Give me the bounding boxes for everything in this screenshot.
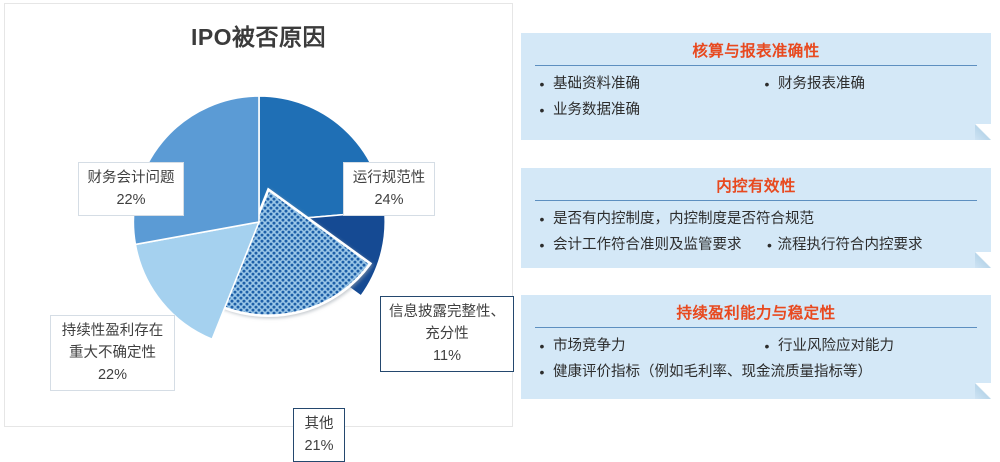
bullet-item: • 是否有内控制度，内控制度是否符合规范 xyxy=(531,206,981,232)
bullet-label: 基础资料准确 xyxy=(553,71,640,97)
pie-chart: 财务会计问题 22% 运行规范性 24% 信息披露完整性、 充分性 11% 持续… xyxy=(5,56,514,426)
bullet-item: • 业务数据准确 xyxy=(531,97,756,123)
bullet-dot-icon: • xyxy=(756,71,778,97)
bullet-row: • 基础资料准确 • 财务报表准确 xyxy=(531,71,981,97)
bullet-label: 会计工作符合准则及监管要求 xyxy=(553,232,742,258)
panel-title: 核算与报表准确性 xyxy=(521,33,991,61)
bullet-label: 健康评价指标（例如毛利率、现金流质量指标等） xyxy=(553,359,872,385)
pie-label-yunxing-value: 24% xyxy=(350,189,428,211)
pie-label-chixu-name-line2: 重大不确定性 xyxy=(57,342,168,364)
pie-label-chixu-value: 22% xyxy=(57,364,168,386)
pie-label-qita: 其他 21% xyxy=(293,408,345,462)
pie-label-xinxi-value: 11% xyxy=(387,345,507,367)
bullet-label: 市场竞争力 xyxy=(553,333,626,359)
bullet-label: 业务数据准确 xyxy=(553,97,640,123)
pie-label-yunxing-name: 运行规范性 xyxy=(350,167,428,189)
bullet-dot-icon: • xyxy=(531,232,553,258)
pie-label-xinxi: 信息披露完整性、 充分性 11% xyxy=(380,296,514,372)
panel-body: • 基础资料准确 • 财务报表准确 • 业务数据准确 xyxy=(521,66,991,123)
bullet-label: 流程执行符合内控要求 xyxy=(778,232,923,258)
bullet-label: 行业风险应对能力 xyxy=(778,333,894,359)
pie-label-chixu-name-line1: 持续性盈利存在 xyxy=(57,320,168,342)
pie-label-yunxing: 运行规范性 24% xyxy=(343,162,435,216)
bullet-item: • 行业风险应对能力 xyxy=(756,333,981,359)
info-panel-internal-control: 内控有效性 • 是否有内控制度，内控制度是否符合规范 • 会计工作符合准则及监管… xyxy=(521,168,991,268)
bullet-row: • 业务数据准确 xyxy=(531,97,981,123)
pie-label-caiwu: 财务会计问题 22% xyxy=(78,162,184,216)
bullet-label: 是否有内控制度，内控制度是否符合规范 xyxy=(553,206,814,232)
slide-root: IPO被否原因 xyxy=(0,0,1000,431)
bullet-item: • 市场竞争力 xyxy=(531,333,756,359)
panel-title: 内控有效性 xyxy=(521,168,991,196)
bullet-row: • 市场竞争力 • 行业风险应对能力 xyxy=(531,333,981,359)
bullet-dot-icon: • xyxy=(531,97,553,123)
bullet-item: • 基础资料准确 xyxy=(531,71,756,97)
bullet-row: • 会计工作符合准则及监管要求 • 流程执行符合内控要求 xyxy=(531,232,981,258)
bullet-dot-icon: • xyxy=(531,71,553,97)
panel-body: • 是否有内控制度，内控制度是否符合规范 • 会计工作符合准则及监管要求 • 流… xyxy=(521,201,991,258)
panel-title: 持续盈利能力与稳定性 xyxy=(521,295,991,323)
pie-label-caiwu-value: 22% xyxy=(85,189,177,211)
page-curl-icon xyxy=(975,252,991,268)
info-panel-accounting-accuracy: 核算与报表准确性 • 基础资料准确 • 财务报表准确 • 业务数据准确 xyxy=(521,33,991,140)
bullet-item: • 健康评价指标（例如毛利率、现金流质量指标等） xyxy=(531,359,981,385)
bullet-dot-icon: • xyxy=(531,333,553,359)
bullet-dot-icon: • xyxy=(756,333,778,359)
bullet-dot-icon: • xyxy=(531,359,553,385)
bullet-dot-icon: • xyxy=(762,232,778,258)
pie-label-chixu: 持续性盈利存在 重大不确定性 22% xyxy=(50,315,175,391)
pie-label-xinxi-name-line1: 信息披露完整性、 xyxy=(387,301,507,323)
pie-chart-card: IPO被否原因 xyxy=(4,3,513,427)
bullet-item: • 会计工作符合准则及监管要求 xyxy=(531,232,742,258)
page-curl-icon xyxy=(975,383,991,399)
pie-label-qita-value: 21% xyxy=(300,435,338,457)
pie-label-xinxi-name-line2: 充分性 xyxy=(387,323,507,345)
bullet-dot-icon: • xyxy=(531,206,553,232)
info-panel-profitability: 持续盈利能力与稳定性 • 市场竞争力 • 行业风险应对能力 • 健康评价指标（例… xyxy=(521,295,991,399)
bullet-item: • 财务报表准确 xyxy=(756,71,981,97)
bullet-row: • 健康评价指标（例如毛利率、现金流质量指标等） xyxy=(531,359,981,385)
bullet-label: 财务报表准确 xyxy=(778,71,865,97)
bullet-item: • 流程执行符合内控要求 xyxy=(762,232,923,258)
panel-body: • 市场竞争力 • 行业风险应对能力 • 健康评价指标（例如毛利率、现金流质量指… xyxy=(521,328,991,385)
page-curl-icon xyxy=(975,124,991,140)
bullet-row: • 是否有内控制度，内控制度是否符合规范 xyxy=(531,206,981,232)
page-title: IPO被否原因 xyxy=(5,18,512,52)
pie-label-qita-name: 其他 xyxy=(300,413,338,435)
pie-label-caiwu-name: 财务会计问题 xyxy=(85,167,177,189)
